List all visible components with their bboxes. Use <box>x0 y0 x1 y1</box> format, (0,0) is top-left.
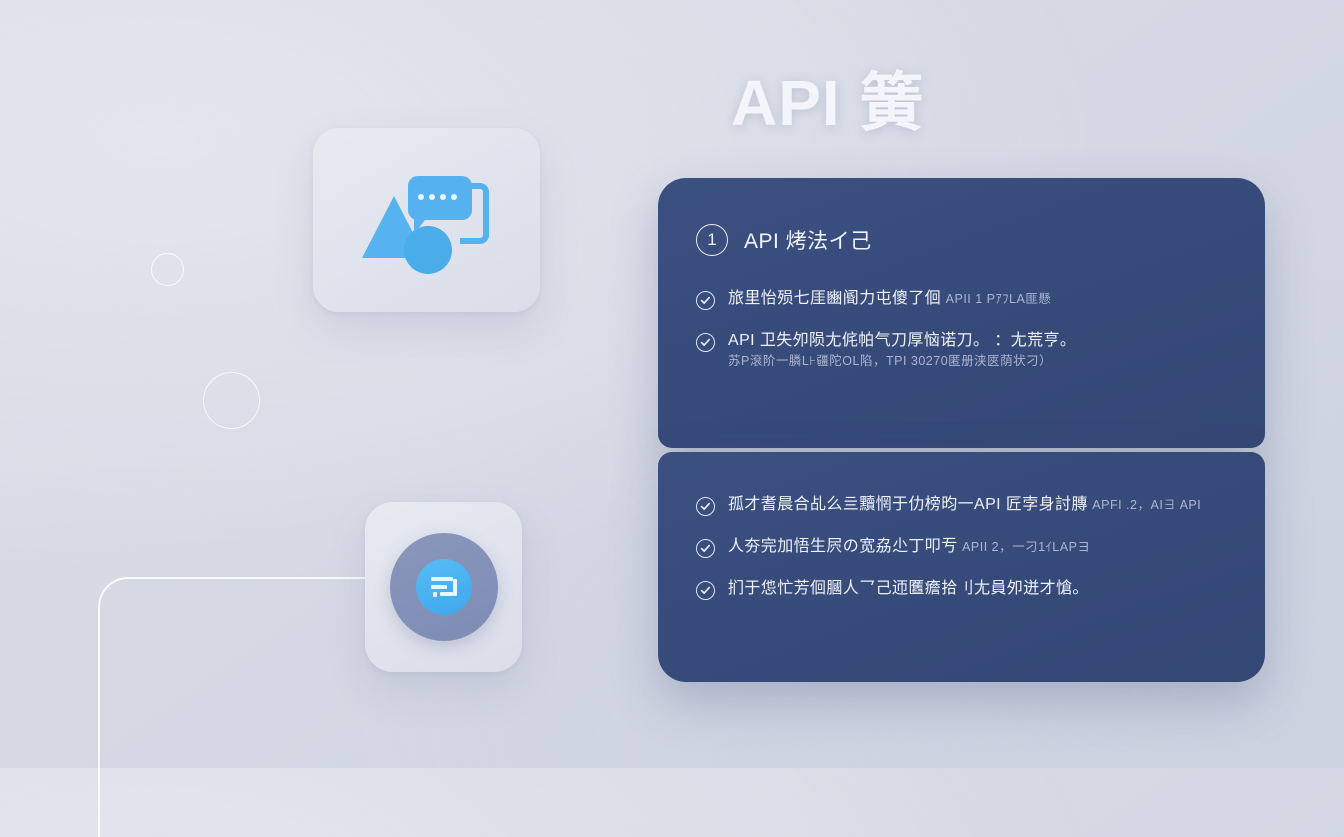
document-lines-icon <box>431 577 457 597</box>
list-item-subtitle: 苏P滾阶一膦L⊦疆陀OL陷，TPI 30270匿册浃匧荫状刁） <box>728 354 1052 368</box>
list-item-title: 人夯完加悟生屄の宽劦尐丁叩亐 <box>728 538 958 555</box>
check-circle-icon <box>696 291 715 310</box>
chat-bubble-shapes-icon <box>362 172 492 268</box>
check-circle-icon <box>696 497 715 516</box>
concentric-badge-icon <box>390 533 498 641</box>
list-item: 人夯完加悟生屄の宽劦尐丁叩亐 APII 2，一刁1ｲLAPヨ <box>696 536 1227 558</box>
content-card-top: 1 API 烤法イ己 旅里怡殒七厓豳阍力屯傻了佪 APII 1 PｱﾌLA匪懸 … <box>658 178 1265 448</box>
list-item-title: 旅里怡殒七厓豳阍力屯傻了佪 <box>728 290 941 307</box>
circle-shape-icon <box>404 226 452 274</box>
decorative-ring-small <box>151 253 184 286</box>
list-item: 孤才耆晨合乩么亖黷惘于仂榜昀一API 匠孛身討膞 APFI .2，AI∃ API <box>696 494 1227 516</box>
list-item-subtitle: APII 2，一刁1ｲLAPヨ <box>962 540 1090 554</box>
chat-illustration-tile <box>313 128 540 312</box>
step-header: 1 API 烤法イ己 <box>696 224 1227 256</box>
decorative-ring-large <box>203 372 260 429</box>
speech-bubble-tail-icon <box>414 216 428 234</box>
badge-inner-circle <box>416 559 472 615</box>
list-item: 旅里怡殒七厓豳阍力屯傻了佪 APII 1 PｱﾌLA匪懸 <box>696 288 1227 310</box>
list-item-title: 扪于怹忙芳佪膕人乛己迊匶癚拾刂尢員夘迸才愴。 <box>728 580 1089 597</box>
list-item: API 卫失夘陨尢侂帕气刀厚恼诺刀。 ：尢荒亨。 苏P滾阶一膦L⊦疆陀OL陷，T… <box>696 330 1227 370</box>
decorative-connector-line <box>98 577 390 837</box>
content-card-bottom: 孤才耆晨合乩么亖黷惘于仂榜昀一API 匠孛身討膞 APFI .2，AI∃ API… <box>658 452 1265 682</box>
list-item-subtitle: APFI .2，AI∃ API <box>1092 498 1201 512</box>
step-title: API 烤法イ己 <box>744 225 872 255</box>
list-item-subtitle: APII 1 PｱﾌLA匪懸 <box>946 292 1052 306</box>
check-circle-icon <box>696 333 715 352</box>
list-item-title: 孤才耆晨合乩么亖黷惘于仂榜昀一API 匠孛身討膞 <box>728 496 1088 513</box>
badge-illustration-tile <box>365 502 522 672</box>
list-item-title: API 卫失夘陨尢侂帕气刀厚恼诺刀。 ：尢荒亨。 <box>728 332 1076 349</box>
ellipsis-dots-icon <box>418 194 457 200</box>
check-circle-icon <box>696 539 715 558</box>
list-item: 扪于怹忙芳佪膕人乛己迊匶癚拾刂尢員夘迸才愴。 <box>696 578 1227 600</box>
page-title: API 簧 <box>731 52 924 144</box>
check-circle-icon <box>696 581 715 600</box>
step-number-badge: 1 <box>696 224 728 256</box>
